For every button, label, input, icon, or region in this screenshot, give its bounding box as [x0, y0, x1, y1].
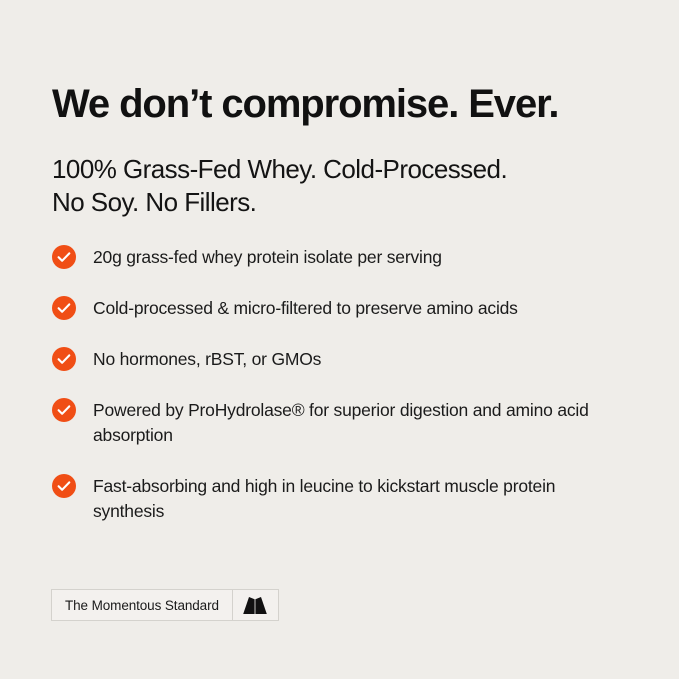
page-title: We don’t compromise. Ever.	[52, 81, 558, 127]
subheadline-line-2: No Soy. No Fillers.	[52, 186, 507, 219]
check-circle-icon	[52, 398, 76, 422]
benefit-text: No hormones, rBST, or GMOs	[93, 346, 321, 372]
list-item: 20g grass-fed whey protein isolate per s…	[52, 244, 642, 270]
product-benefits-panel: We don’t compromise. Ever. 100% Grass-Fe…	[0, 0, 679, 679]
benefit-text: Cold-processed & micro-filtered to prese…	[93, 295, 518, 321]
momentous-mountain-logo-icon	[233, 590, 278, 620]
list-item: Fast-absorbing and high in leucine to ki…	[52, 473, 642, 524]
benefit-text: 20g grass-fed whey protein isolate per s…	[93, 244, 442, 270]
benefit-text: Fast-absorbing and high in leucine to ki…	[93, 473, 593, 524]
subheadline: 100% Grass-Fed Whey. Cold-Processed. No …	[52, 153, 507, 219]
check-circle-icon	[52, 347, 76, 371]
list-item: Powered by ProHydrolase® for superior di…	[52, 397, 642, 448]
benefit-text: Powered by ProHydrolase® for superior di…	[93, 397, 593, 448]
list-item: No hormones, rBST, or GMOs	[52, 346, 642, 372]
list-item: Cold-processed & micro-filtered to prese…	[52, 295, 642, 321]
benefits-list: 20g grass-fed whey protein isolate per s…	[52, 244, 642, 524]
subheadline-line-1: 100% Grass-Fed Whey. Cold-Processed.	[52, 153, 507, 186]
check-circle-icon	[52, 474, 76, 498]
status-badge: The Momentous Standard	[51, 589, 279, 621]
check-circle-icon	[52, 245, 76, 269]
check-circle-icon	[52, 296, 76, 320]
badge-label: The Momentous Standard	[52, 590, 232, 620]
